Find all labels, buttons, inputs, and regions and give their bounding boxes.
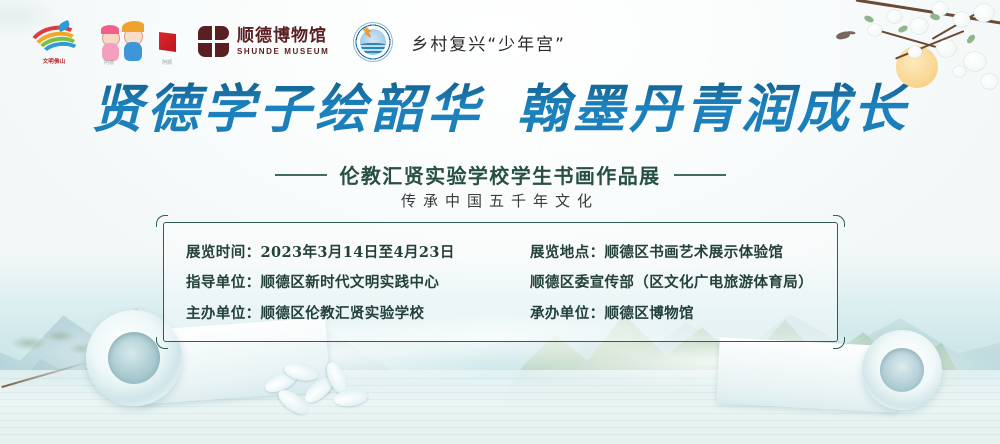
exhibition-poster: 文明佛山 阿德 阿顺 [0, 0, 1000, 444]
headline-line-left: 贤德学子绘韶华 [91, 79, 483, 140]
info-host-unit: 主办单位：顺德区伦教汇贤实验学校 [186, 302, 516, 323]
mascot-girl-cap [101, 25, 119, 34]
rule-right [674, 174, 726, 176]
museum-name-cn: 顺德博物馆 [237, 28, 329, 45]
school-badge-core [360, 29, 386, 55]
info-grid: 展览时间：2023年3月14日至4月23日 展览地点：顺德区书画艺术展示体验馆 … [164, 223, 837, 341]
museum-square-tl [198, 26, 212, 40]
museum-mark-icon [198, 26, 230, 58]
logo-strip: 文明佛山 阿德 阿顺 [22, 18, 566, 66]
info-guiding-unit-2: 顺德区委宣传部（区文化广电旅游体育局） [516, 271, 815, 292]
museum-square-bl [198, 43, 212, 57]
page-title: 贤德学子绘韶华翰墨丹青润成长 [0, 82, 1000, 137]
museum-wordmark: 顺德博物馆 SHUNDE MUSEUM [237, 28, 329, 56]
rule-left [275, 174, 327, 176]
info-organizer-unit: 承办单位：顺德区博物馆 [516, 302, 815, 323]
museum-name-en: SHUNDE MUSEUM [237, 48, 329, 56]
wenming-logo-caption: 文明佛山 [30, 59, 78, 66]
museum-square-br [215, 43, 229, 57]
subtitle-text: 伦教汇贤实验学校学生书画作品展 [340, 160, 661, 189]
info-exhibition-date: 展览时间：2023年3月14日至4月23日 [186, 241, 516, 262]
mascot-logo: 阿德 阿顺 [98, 18, 178, 66]
subtitle-row: 伦教汇贤实验学校学生书画作品展 [0, 160, 1000, 189]
headline-line-right: 翰墨丹青润成长 [517, 79, 909, 140]
mascot-caption-left: 阿德 [104, 59, 114, 66]
mascot-boy-hair [122, 21, 144, 32]
wenming-foshan-logo: 文明佛山 [22, 18, 84, 66]
poster-content: 文明佛山 阿德 阿顺 [0, 0, 1000, 444]
mascot-flag-icon [159, 32, 176, 52]
museum-square-tr [215, 26, 229, 40]
tagline-text: 传承中国五千年文化 [0, 190, 1000, 211]
exhibition-info-box: 展览时间：2023年3月14日至4月23日 展览地点：顺德区书画艺术展示体验馆 … [163, 222, 838, 342]
shunde-museum-logo: 顺德博物馆 SHUNDE MUSEUM [198, 26, 329, 58]
mascot-caption-right: 阿顺 [162, 59, 172, 66]
info-guiding-unit: 指导单位：顺德区新时代文明实践中心 [186, 271, 516, 292]
program-slogan: 乡村复兴“少年宫” [411, 30, 566, 55]
school-badge-icon [353, 22, 393, 62]
info-exhibition-venue: 展览地点：顺德区书画艺术展示体验馆 [516, 241, 815, 262]
mascot-captions: 阿德 阿顺 [98, 59, 178, 66]
